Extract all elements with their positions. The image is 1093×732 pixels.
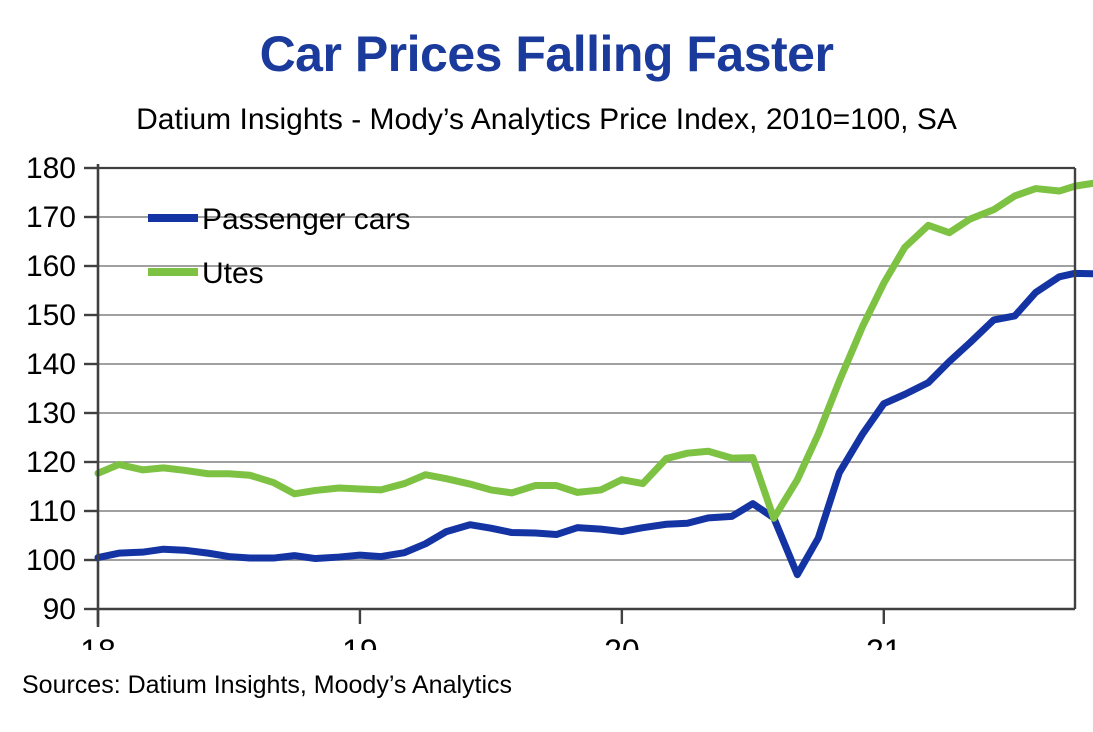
y-axis-tick-label: 150 xyxy=(26,299,76,332)
x-axis-tick-label: 20 xyxy=(604,633,640,650)
y-axis-tick-label: 130 xyxy=(26,397,76,430)
line-chart-svg: 90100110120130140150160170180 18192021 P… xyxy=(0,150,1093,650)
y-axis-tick-label: 140 xyxy=(26,348,76,381)
data-series xyxy=(98,183,1093,575)
legend-label-utes: Utes xyxy=(202,257,264,290)
y-axis-tick-label: 160 xyxy=(26,250,76,283)
chart-legend: Passenger carsUtes xyxy=(148,203,410,290)
legend-label-passenger-cars: Passenger cars xyxy=(202,203,410,236)
x-axis-tick-label: 19 xyxy=(342,633,378,650)
x-axis-tick-label: 18 xyxy=(80,633,116,650)
x-axis-tick-label: 21 xyxy=(866,633,902,650)
page-subtitle: Datium Insights - Mody’s Analytics Price… xyxy=(0,103,1093,136)
x-tick-marks xyxy=(98,609,884,624)
y-axis-tick-label: 90 xyxy=(43,593,76,626)
y-axis-tick-label: 180 xyxy=(26,152,76,185)
chart-page: Car Prices Falling Faster Datium Insight… xyxy=(0,0,1093,732)
y-axis-tick-label: 170 xyxy=(26,201,76,234)
y-axis-labels: 90100110120130140150160170180 xyxy=(26,152,76,626)
series-line-passenger-cars xyxy=(98,273,1093,574)
y-axis-tick-label: 120 xyxy=(26,446,76,479)
plot-area: 90100110120130140150160170180 18192021 P… xyxy=(0,150,1093,650)
y-axis-tick-label: 110 xyxy=(28,495,76,528)
y-tick-marks xyxy=(84,168,98,609)
page-title: Car Prices Falling Faster xyxy=(0,28,1093,81)
x-axis-labels: 18192021 xyxy=(80,633,901,650)
source-note: Sources: Datium Insights, Moody’s Analyt… xyxy=(22,671,512,700)
y-axis-tick-label: 100 xyxy=(26,544,76,577)
